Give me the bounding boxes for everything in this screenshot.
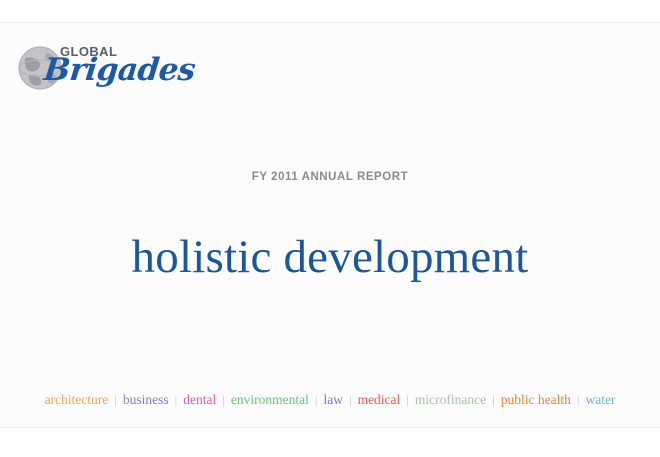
document-viewer: GLOBAL Brigades FY 2011 ANNUAL REPORT ho… [0,0,660,457]
program-areas-list: architecture|business|dental|environment… [0,393,660,407]
program-separator: | [310,393,323,406]
program-area-law: law [322,393,344,407]
program-separator: | [572,393,585,406]
program-separator: | [344,393,357,406]
program-separator: | [487,393,500,406]
program-separator: | [109,393,122,406]
program-area-dental: dental [182,393,217,407]
report-kicker: FY 2011 ANNUAL REPORT [0,171,660,183]
program-area-water: water [584,393,616,407]
program-area-microfinance: microfinance [414,393,487,407]
program-separator: | [217,393,230,406]
page-title: holistic development [0,232,660,284]
global-brigades-logo: GLOBAL Brigades [16,39,166,97]
program-area-business: business [122,393,170,407]
program-separator: | [401,393,414,406]
program-area-public-health: public health [500,393,572,407]
program-area-environmental: environmental [230,393,310,407]
program-area-medical: medical [357,393,402,407]
program-area-architecture: architecture [44,393,110,407]
annual-report-cover-page: GLOBAL Brigades FY 2011 ANNUAL REPORT ho… [0,22,660,428]
program-separator: | [170,393,183,406]
logo-wordmark-brigades: Brigades [42,55,196,86]
